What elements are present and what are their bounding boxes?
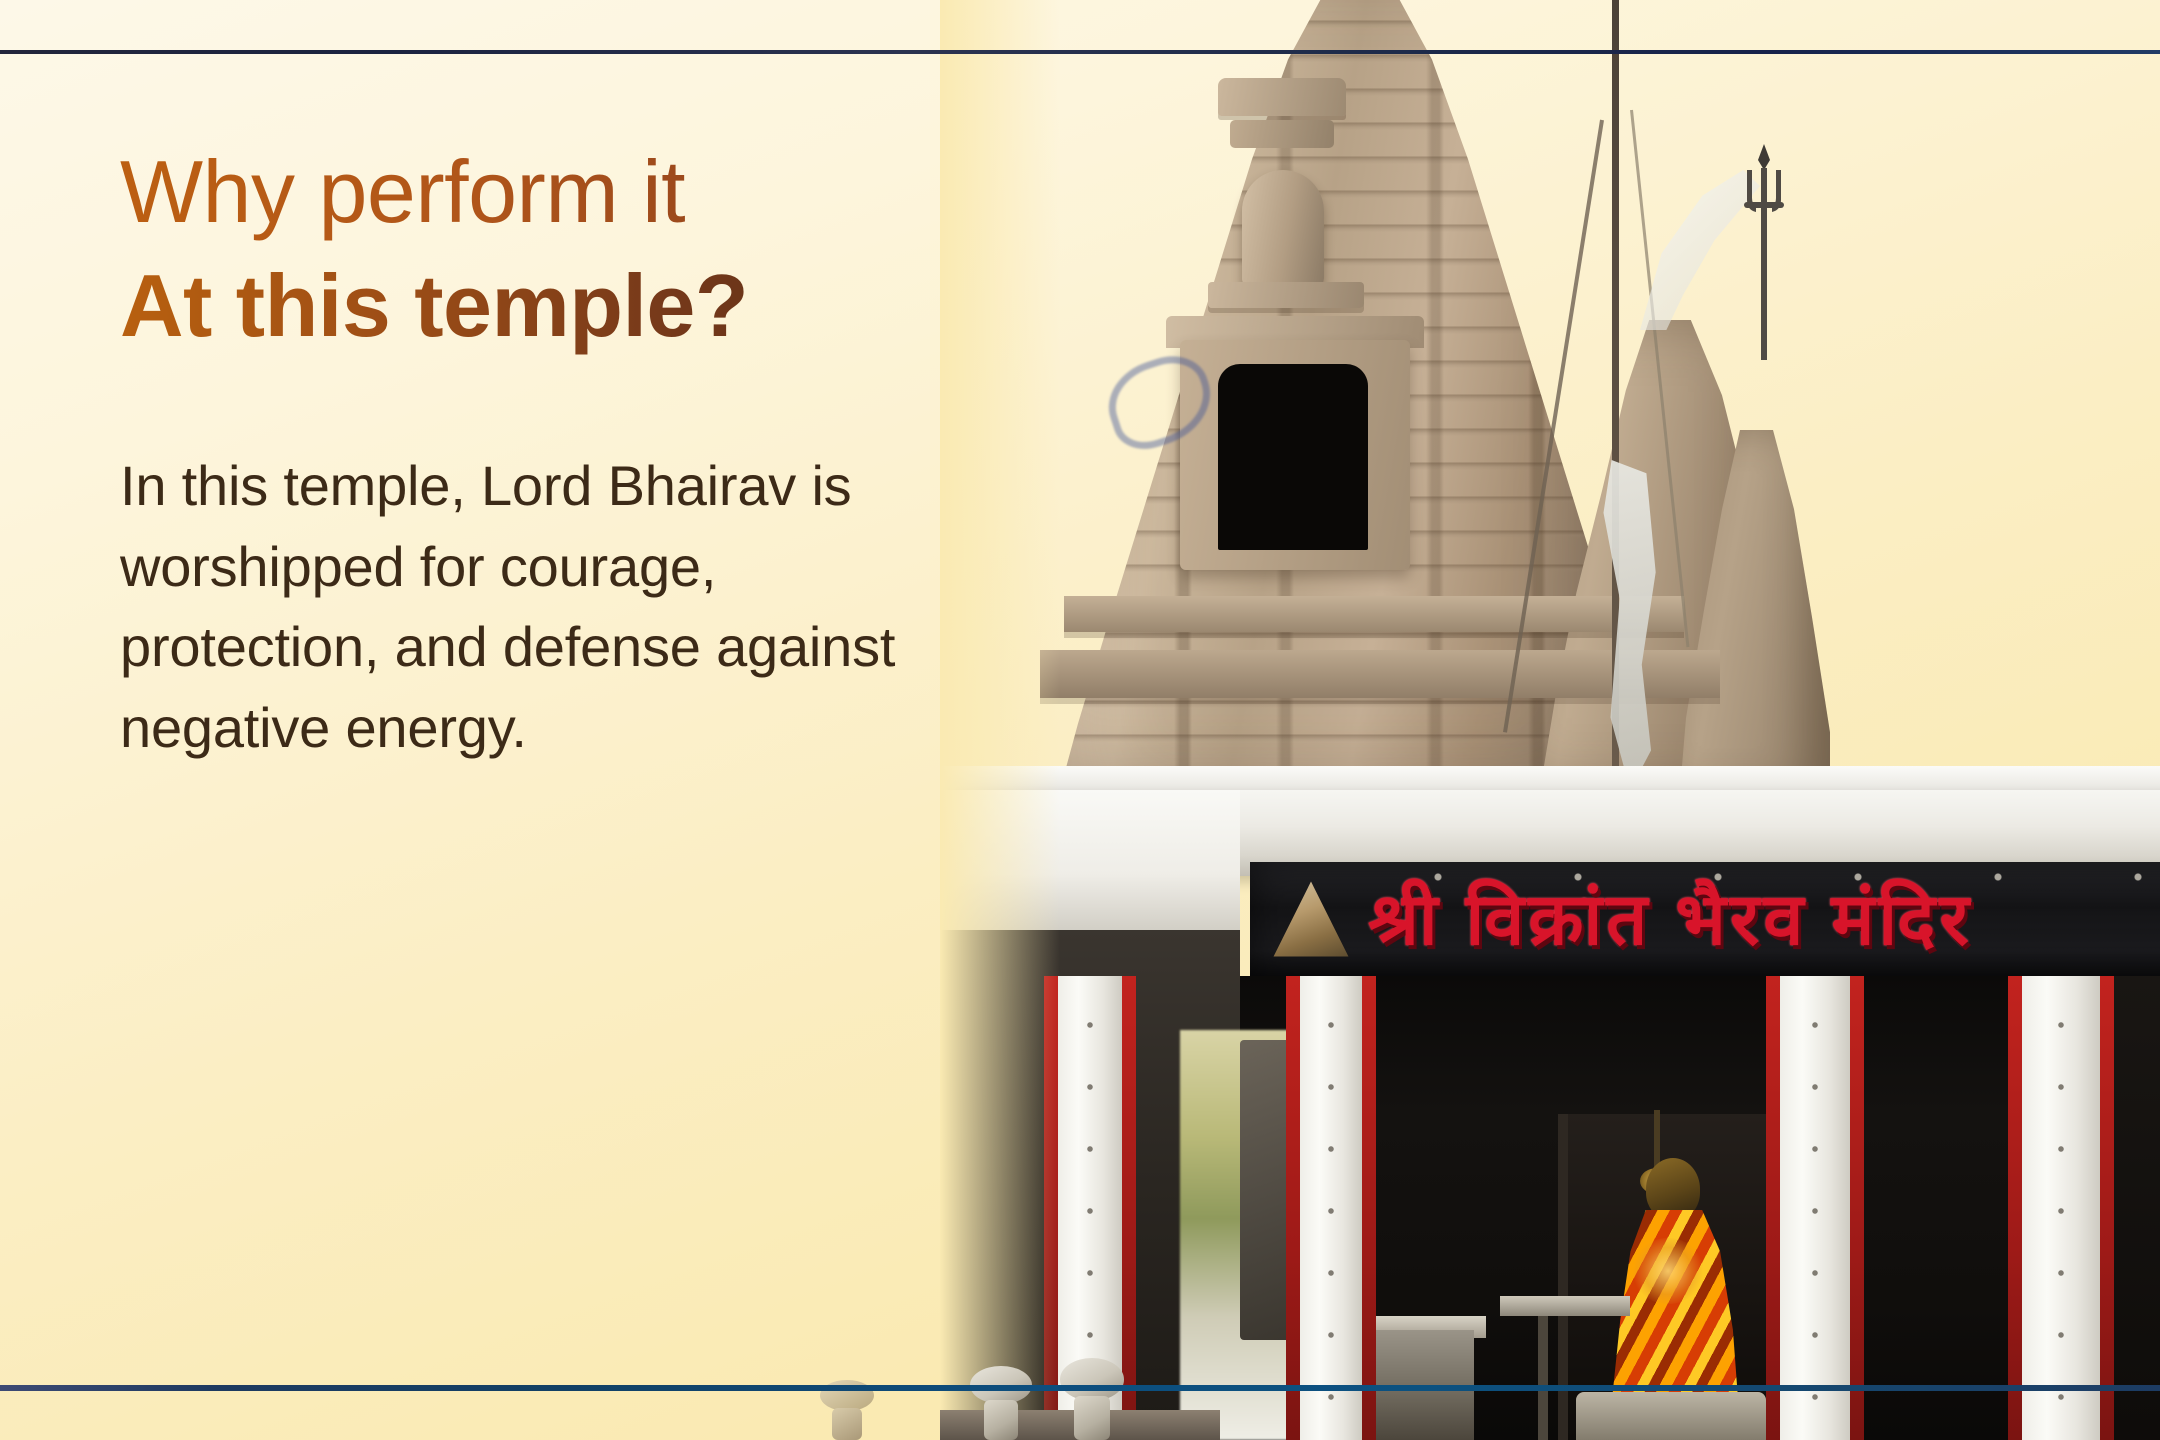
pillar-3-trim-left [1766,976,1780,1440]
shikhara-band-lower [1230,120,1334,148]
bottom-divider-rule [0,1385,2160,1391]
headline-line-1: Why perform it [120,148,1000,242]
niche-dark-opening [1218,364,1368,550]
poster-canvas: श्री विक्रांत भैरव मंदिर [0,0,2160,1440]
temple-photo: श्री विक्रांत भैरव मंदिर [940,0,2160,1440]
shikhara-plinth-upper [1064,596,1684,632]
pillar-2 [1300,976,1362,1440]
temple-signboard: श्री विक्रांत भैरव मंदिर [1250,862,2160,976]
signboard-emblem-icon [1272,880,1350,958]
body-paragraph: In this temple, Lord Bhairav is worshipp… [120,446,920,769]
baluster-3-neck [1074,1396,1110,1440]
pillar-3-studs [1810,994,1820,1422]
top-divider-rule [0,50,2160,54]
shikhara-cornice-shelf [1208,282,1364,308]
pillar-4-trim-left [2008,976,2022,1440]
headline-line-2: At this temple? [120,262,1000,360]
pillar-2-trim-right [1362,976,1376,1440]
baluster-3 [1060,1358,1124,1440]
pillar-2-studs [1326,994,1336,1422]
foreground-stone-block [1576,1392,1766,1440]
signboard-text: श्री विक्रांत भैरव मंदिर [1368,868,1973,966]
interior-bench-leg [1538,1316,1548,1440]
trident-icon [1736,140,1792,360]
text-column: Why perform it At this temple? In this t… [120,148,1000,769]
page-title: Why perform it At this temple? [120,148,1000,360]
pillar-3 [1780,976,1850,1440]
baluster-2 [970,1366,1032,1440]
pillar-2-trim-left [1286,976,1300,1440]
pillar-4-studs [2056,994,2066,1422]
temple-shikhara [980,0,1770,820]
interior-bench [1500,1296,1630,1316]
baluster-3-ball [1060,1358,1124,1401]
idol-glow [1632,1238,1704,1304]
shikhara-medallion [1242,170,1324,288]
baluster-1-neck [832,1408,862,1440]
pillar-1-trim-right [1122,976,1136,1440]
pillar-4 [2022,976,2100,1440]
baluster-2-neck [984,1400,1019,1440]
pillar-4-trim-right [2100,976,2114,1440]
shikhara-band-upper [1218,78,1346,116]
pillar-3-trim-right [1850,976,1864,1440]
